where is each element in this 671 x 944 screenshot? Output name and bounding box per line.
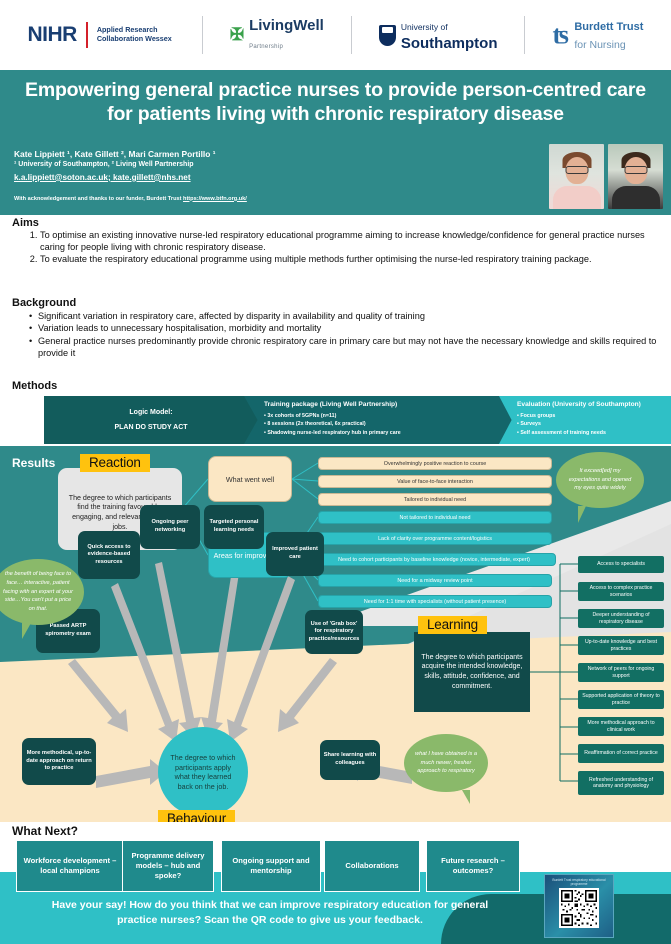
southampton-line1: University of — [401, 22, 448, 32]
methods-bullet: 8 sessions (2x theoretical, 6x practical… — [267, 421, 365, 427]
participant-quote: It exceed[ed] my expectations and opened… — [556, 452, 644, 508]
aims-heading: Aims — [12, 217, 39, 229]
author-affiliations: ¹ University of Southampton, ² Living We… — [14, 160, 494, 171]
reaction-strip[interactable]: Tailored to individual need — [318, 493, 552, 506]
author-photos — [549, 144, 663, 209]
nihr-divider — [86, 22, 88, 48]
behaviour-node[interactable]: Share learning with colleagues — [320, 740, 380, 780]
author-block: Kate Lippiett ¹, Kate Gillett ², Mari Ca… — [14, 148, 494, 202]
aims-item: To optimise an existing innovative nurse… — [40, 230, 665, 254]
funder-link[interactable]: https://www.btfn.org.uk/ — [183, 196, 247, 202]
behaviour-node[interactable]: Quick access to evidence-based resources — [78, 531, 140, 579]
living-well-logo: ✠ LivingWell Partnership — [230, 17, 324, 53]
participant-quote: what I have obtained is a much newer, fr… — [404, 734, 488, 792]
learning-outcome[interactable]: Reaffirmation of correct practice — [578, 744, 664, 763]
methods-bullet: Shadowing nurse-led respiratory hub in p… — [267, 430, 400, 436]
title-block: Empowering general practice nurses to pr… — [0, 70, 671, 215]
reaction-strip[interactable]: Value of face-to-face interaction — [318, 475, 552, 488]
methods-bullet: Surveys — [520, 421, 541, 427]
burdett-line1: Burdett Trust — [574, 21, 643, 33]
nihr-logo: NIHR Applied Research Collaboration Wess… — [28, 22, 175, 48]
reaction-strip[interactable]: Lack of clarity over programme content/l… — [318, 532, 552, 545]
background-list: Significant variation in respiratory car… — [24, 311, 664, 360]
qr-card[interactable]: Burdett Trust respiratory educational pr… — [544, 874, 614, 938]
behaviour-node[interactable]: Ongoing peer networking — [140, 505, 200, 549]
learning-outcome[interactable]: Access to specialists — [578, 556, 664, 573]
reaction-strip[interactable]: Need for a midway review point — [318, 574, 552, 587]
author-names: Kate Lippiett ¹, Kate Gillett ², Mari Ca… — [14, 148, 494, 160]
reaction-strip[interactable]: Overwhelmingly positive reaction to cour… — [318, 457, 552, 470]
learning-outcome[interactable]: Network of peers for ongoing support — [578, 663, 664, 682]
logo-divider-3 — [524, 16, 525, 54]
methods-bullet: Self assessment of training needs — [520, 430, 606, 436]
what-next-heading: What Next? — [12, 824, 78, 838]
learning-badge: Learning — [418, 616, 487, 634]
burdett-swirl-icon: ʦ — [552, 25, 569, 46]
southampton-line2: Southampton — [401, 35, 498, 52]
living-well-subtitle: Partnership — [249, 44, 283, 50]
behaviour-node[interactable]: Use of 'Grab box' for respiratory practi… — [305, 610, 363, 654]
reaction-strip[interactable]: Need for 1:1 time with specialists (with… — [318, 595, 552, 608]
logo-divider-1 — [202, 16, 203, 54]
poster-root: NIHR Applied Research Collaboration Wess… — [0, 0, 671, 944]
author-photo-1 — [549, 144, 604, 209]
aims-item: To evaluate the respiratory educational … — [40, 254, 665, 266]
results-panel: Results — [0, 446, 671, 822]
background-heading: Background — [12, 297, 76, 309]
methods-step-title: Training package (Living Well Partnershi… — [264, 401, 508, 410]
author-photo-2 — [608, 144, 663, 209]
background-item: Variation leads to unnecessary hospitali… — [38, 323, 664, 335]
behaviour-node[interactable]: Targeted personal learning needs — [204, 505, 264, 549]
methods-step-training-package: Training package (Living Well Partnershi… — [244, 396, 514, 444]
leaf-icon: ✠ — [230, 25, 244, 45]
what-next-item[interactable]: Programme delivery models – hub and spok… — [122, 840, 214, 892]
what-next-item[interactable]: Future research – outcomes? — [426, 840, 520, 892]
background-item: General practice nurses predominantly pr… — [38, 336, 664, 360]
background-item: Significant variation in respiratory car… — [38, 311, 664, 323]
shield-icon — [379, 25, 396, 46]
nihr-subtitle: Applied Research Collaboration Wessex — [97, 26, 175, 43]
methods-heading: Methods — [12, 380, 57, 392]
funder-acknowledgement: With acknowledgement and thanks to our f… — [14, 196, 494, 202]
behaviour-node[interactable]: Improved patient care — [266, 532, 324, 576]
what-next-item[interactable]: Collaborations — [324, 840, 420, 892]
living-well-title: LivingWell — [249, 17, 324, 34]
reaction-badge: Reaction — [80, 454, 150, 472]
logo-divider-2 — [351, 16, 352, 54]
reaction-strip[interactable]: Need to cohort participants by baseline … — [312, 553, 556, 566]
southampton-logo: University of Southampton — [379, 17, 498, 53]
behaviour-definition-circle: The degree to which participants apply w… — [158, 727, 248, 817]
behaviour-node[interactable]: More methodical, up-to-date approach on … — [22, 738, 96, 785]
burdett-line2: for Nursing — [574, 39, 625, 51]
learning-outcome[interactable]: Access to complex practice scenarios — [578, 582, 664, 601]
qr-code-svg — [561, 890, 597, 926]
aims-list: To optimise an existing innovative nurse… — [20, 230, 665, 267]
nihr-mark: NIHR — [28, 23, 77, 47]
methods-step-evaluation: Evaluation (University of Southampton) •… — [499, 396, 671, 444]
node-what-went-well[interactable]: What went well — [208, 456, 292, 502]
ack-text: With acknowledgement and thanks to our f… — [14, 196, 183, 202]
qr-code-icon[interactable] — [559, 888, 599, 928]
methods-step-title: Logic Model: — [129, 408, 172, 417]
burdett-logo: ʦ Burdett Trust for Nursing — [552, 17, 643, 53]
methods-flow: Logic Model: PLAN DO STUDY ACT Training … — [44, 396, 664, 444]
page-title: Empowering general practice nurses to pr… — [12, 78, 659, 127]
reaction-strip[interactable]: Not tailored to individual need — [318, 511, 552, 524]
learning-outcome[interactable]: Refreshed understanding of anatomy and p… — [578, 771, 664, 795]
author-emails[interactable]: k.a.lippiett@soton.ac.uk; kate.gillett@n… — [14, 171, 494, 185]
methods-step-bullets: • 3x cohorts of 5GPNs (n=11) • 8 session… — [264, 412, 508, 438]
what-next-item[interactable]: Workforce development – local champions — [16, 840, 124, 892]
methods-bullet: Focus groups — [520, 413, 555, 419]
behaviour-badge: Behaviour — [158, 810, 235, 822]
qr-card-label: Burdett Trust respiratory educational pr… — [548, 878, 610, 886]
learning-definition-card: The degree to which participants acquire… — [414, 632, 530, 712]
logo-bar: NIHR Applied Research Collaboration Wess… — [0, 0, 671, 70]
learning-outcome[interactable]: Deeper understanding of respiratory dise… — [578, 609, 664, 628]
methods-step-bullets: • Focus groups • Surveys • Self assessme… — [517, 412, 671, 438]
learning-outcome[interactable]: Up-to-date knowledge and best practices — [578, 636, 664, 655]
learning-outcome[interactable]: Supported application of theory to pract… — [578, 690, 664, 709]
methods-bullet: 3x cohorts of 5GPNs (n=11) — [267, 413, 336, 419]
call-to-action-text: Have your say! How do you think that we … — [40, 898, 500, 928]
methods-step-logic-model: Logic Model: PLAN DO STUDY ACT — [44, 396, 258, 444]
learning-outcome[interactable]: More methodical approach to clinical wor… — [578, 717, 664, 736]
methods-step-title: Evaluation (University of Southampton) — [517, 401, 671, 410]
what-next-item[interactable]: Ongoing support and mentorship — [221, 840, 321, 892]
methods-step-subtitle: PLAN DO STUDY ACT — [114, 423, 187, 432]
